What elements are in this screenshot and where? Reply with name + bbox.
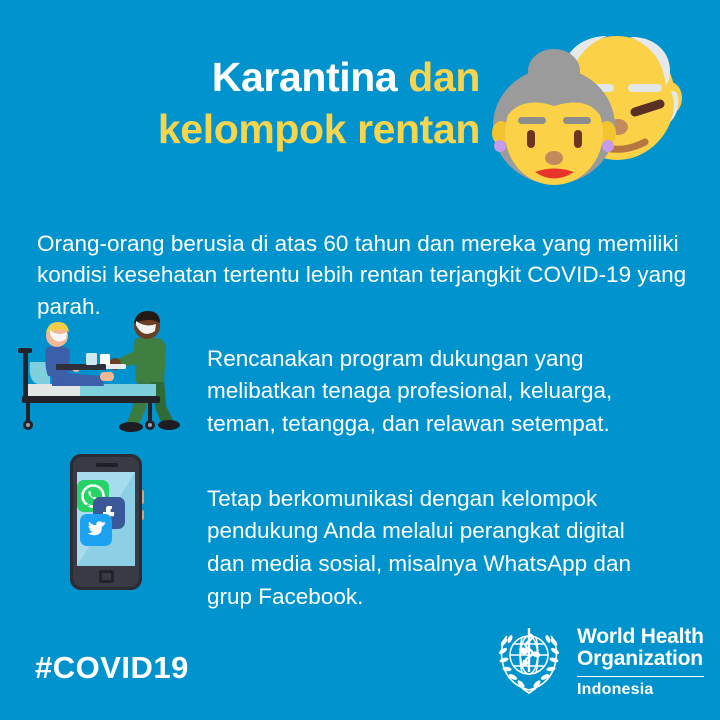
page-title: Karantina dan kelompok rentan xyxy=(60,52,480,155)
smartphone-svg xyxy=(62,452,157,592)
title-line2: kelompok rentan xyxy=(60,104,480,156)
who-emblem-icon xyxy=(492,622,566,696)
title-line1-yellow: dan xyxy=(408,54,480,100)
stay-connected-text: Tetap berkomunikasi dengan kelompok pend… xyxy=(207,483,657,614)
who-country-label: Indonesia xyxy=(577,681,704,699)
who-logo: World Health Organization Indonesia xyxy=(492,622,704,699)
patient-figure xyxy=(30,322,114,386)
hashtag-covid19: #COVID19 xyxy=(35,650,189,686)
hospital-bed-svg xyxy=(16,306,194,434)
who-logotype: World Health Organization Indonesia xyxy=(577,622,704,699)
support-program-text: Rencanakan program dukungan yang melibat… xyxy=(207,343,657,442)
who-name-line2: Organization xyxy=(577,648,704,670)
twitter-icon xyxy=(80,514,112,546)
title-line1-white: Karantina xyxy=(212,54,398,100)
hospital-bed-illustration xyxy=(16,306,194,434)
smartphone-illustration xyxy=(62,452,157,592)
who-divider xyxy=(577,676,704,677)
who-emblem-svg xyxy=(492,622,566,696)
elderly-couple-illustration xyxy=(487,28,702,193)
healthcare-worker-figure xyxy=(109,311,180,432)
infographic-canvas: Karantina dan kelompok rentan Orang-oran… xyxy=(0,0,720,720)
who-name-line1: World Health xyxy=(577,626,704,648)
elderly-couple-svg xyxy=(487,28,702,193)
